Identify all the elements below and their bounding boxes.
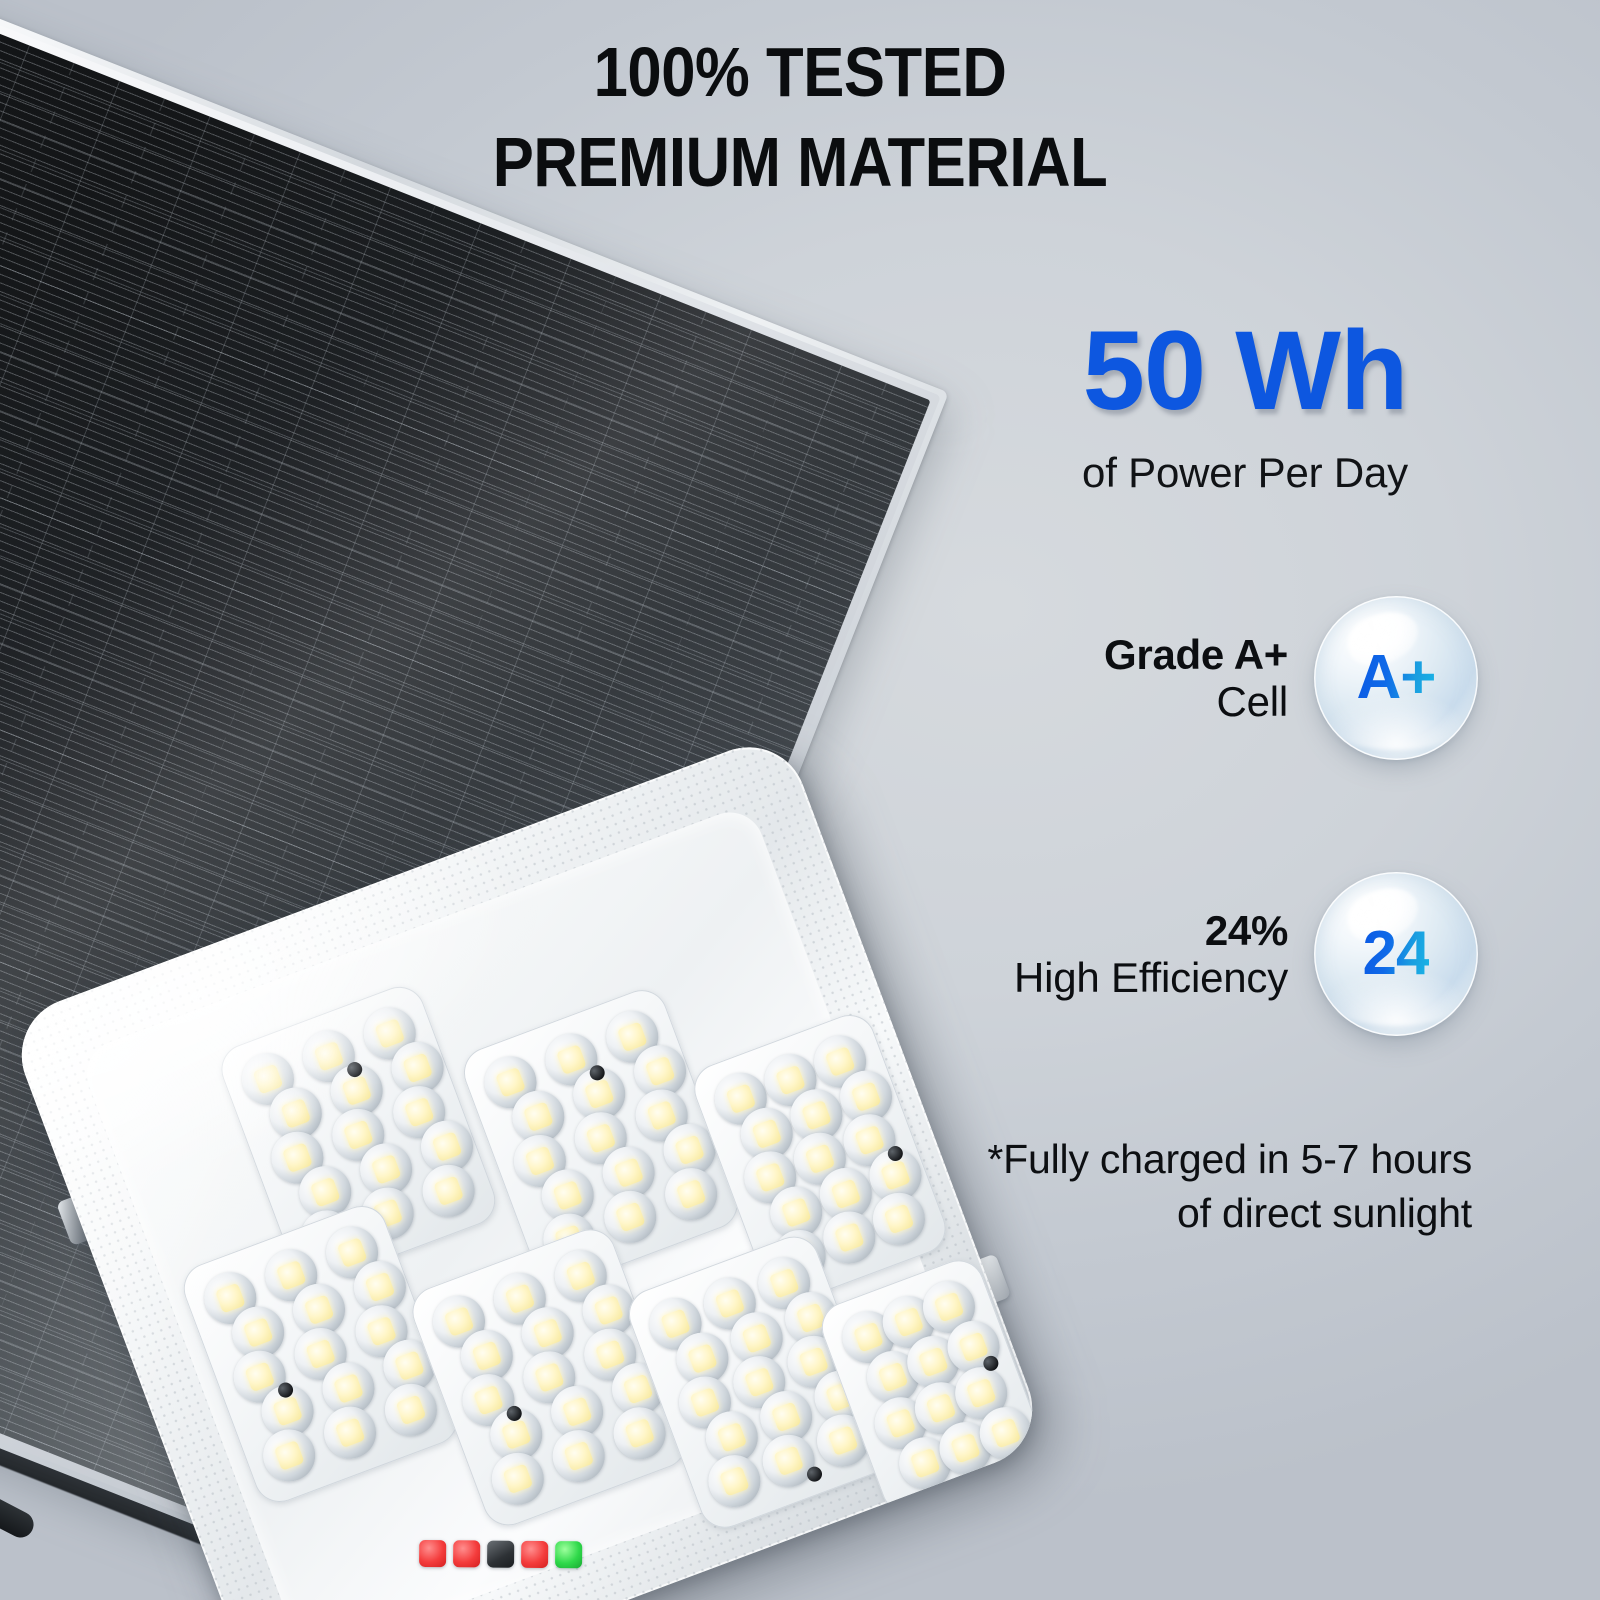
power-value: 50 Wh — [1030, 315, 1460, 427]
indicator-led-red-2 — [453, 1540, 480, 1567]
grade-title: Grade A+ — [1104, 631, 1288, 678]
droplet-badge-a-plus-label: A+ — [1357, 647, 1436, 709]
indicator-led-green — [555, 1541, 582, 1568]
efficiency-subtitle: High Efficiency — [1014, 954, 1288, 1001]
led-chip — [256, 1422, 323, 1489]
led-chip — [484, 1445, 551, 1512]
power-caption: of Power Per Day — [1030, 449, 1460, 497]
efficiency-title: 24% — [1014, 907, 1288, 954]
status-indicator-strip — [419, 1540, 582, 1568]
led-chip — [701, 1448, 768, 1515]
led-chip — [415, 1157, 482, 1224]
droplet-badge-24: 24 — [1314, 872, 1478, 1036]
droplet-badge-a-plus: A+ — [1314, 596, 1478, 760]
product-marketing-image: 100% TESTED PREMIUM MATERIAL 50 Wh of Po… — [0, 0, 1600, 1600]
indicator-sensor-button[interactable] — [487, 1541, 514, 1568]
charging-footnote: *Fully charged in 5-7 hours of direct su… — [792, 1132, 1472, 1240]
led-chip — [658, 1161, 725, 1228]
led-chip — [755, 1427, 822, 1494]
page-title: 100% TESTED PREMIUM MATERIAL — [96, 28, 1504, 207]
feature-high-efficiency: 24% High Efficiency 24 — [1014, 872, 1478, 1036]
grade-subtitle: Cell — [1104, 678, 1288, 725]
led-chip — [317, 1399, 384, 1466]
indicator-led-red-1 — [419, 1540, 446, 1567]
headline-line-2: PREMIUM MATERIAL — [493, 123, 1108, 201]
headline-line-1: 100% TESTED — [594, 33, 1007, 111]
led-chip — [377, 1376, 444, 1443]
grade-text-block: Grade A+ Cell — [1104, 631, 1288, 725]
droplet-badge-24-label: 24 — [1363, 923, 1430, 985]
led-chip — [545, 1423, 612, 1490]
feature-grade-a-plus: Grade A+ Cell A+ — [1104, 596, 1478, 760]
efficiency-text-block: 24% High Efficiency — [1014, 907, 1288, 1001]
indicator-led-red-3 — [521, 1541, 548, 1568]
stat-power-per-day: 50 Wh of Power Per Day — [1030, 315, 1460, 497]
